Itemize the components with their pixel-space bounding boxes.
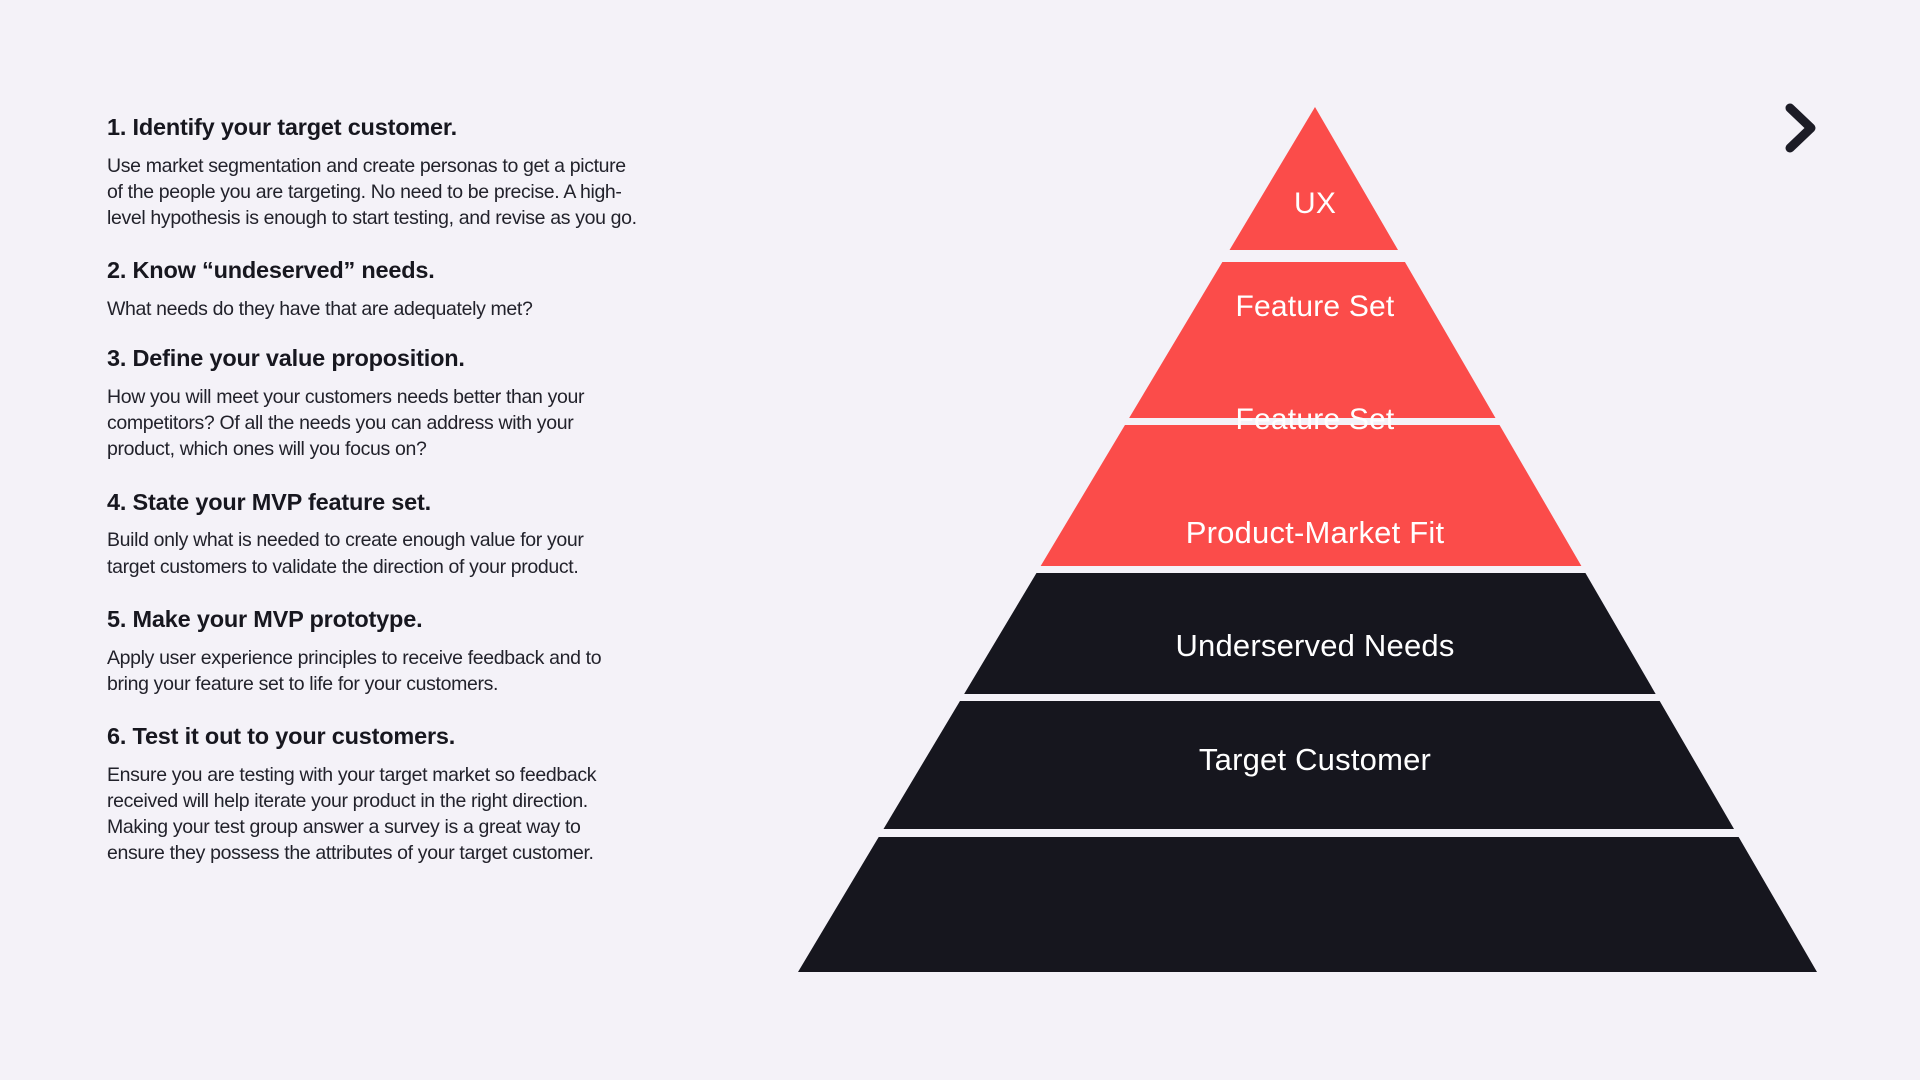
step-body-line: Apply user experience principles to rece… bbox=[107, 645, 747, 671]
pyramid-tier-shape-6[interactable] bbox=[780, 837, 1840, 977]
step-item-1: 1. Identify your target customer. Use ma… bbox=[107, 112, 757, 231]
step-body-line: What needs do they have that are adequat… bbox=[107, 296, 747, 322]
step-body: Build only what is needed to create enou… bbox=[107, 527, 747, 579]
pyramid-tier-shape-2[interactable] bbox=[780, 262, 1840, 418]
pyramid-tier-shape-1[interactable] bbox=[780, 80, 1840, 250]
step-title: 5. Make your MVP prototype. bbox=[107, 604, 757, 636]
step-body-line: level hypothesis is enough to start test… bbox=[107, 205, 747, 231]
step-body-line: competitors? Of all the needs you can ad… bbox=[107, 410, 747, 436]
step-body-line: of the people you are targeting. No need… bbox=[107, 179, 747, 205]
next-button[interactable] bbox=[1778, 98, 1824, 158]
pyramid-tier-label-2: Feature Set bbox=[1236, 290, 1395, 323]
step-title: 3. Define your value proposition. bbox=[107, 343, 757, 375]
step-body-line: How you will meet your customers needs b… bbox=[107, 384, 747, 410]
step-item-5: 5. Make your MVP prototype. Apply user e… bbox=[107, 604, 757, 697]
pyramid-tier-label-6: Target Customer bbox=[1199, 742, 1431, 777]
step-body-line: Making your test group answer a survey i… bbox=[107, 814, 747, 840]
pyramid-tier-label-3: Feature Set bbox=[1236, 403, 1395, 436]
step-item-6: 6. Test it out to your customers. Ensure… bbox=[107, 721, 757, 867]
step-title: 2. Know “undeserved” needs. bbox=[107, 255, 757, 287]
step-body: What needs do they have that are adequat… bbox=[107, 296, 747, 322]
step-body: How you will meet your customers needs b… bbox=[107, 384, 747, 463]
step-item-3: 3. Define your value proposition. How yo… bbox=[107, 343, 757, 462]
step-body: Use market segmentation and create perso… bbox=[107, 153, 747, 232]
step-body: Apply user experience principles to rece… bbox=[107, 645, 747, 697]
pyramid-tier-label-1: UX bbox=[1294, 187, 1336, 220]
step-body-line: target customers to validate the directi… bbox=[107, 554, 747, 580]
step-body-line: Ensure you are testing with your target … bbox=[107, 762, 747, 788]
step-title: 4. State your MVP feature set. bbox=[107, 487, 757, 519]
step-item-2: 2. Know “undeserved” needs. What needs d… bbox=[107, 255, 757, 322]
step-body-line: product, which ones will you focus on? bbox=[107, 436, 747, 462]
step-body-line: Build only what is needed to create enou… bbox=[107, 527, 747, 553]
chevron-right-icon[interactable] bbox=[1778, 98, 1824, 158]
step-body: Ensure you are testing with your target … bbox=[107, 762, 747, 867]
pyramid-diagram: UX Feature Set Feature Set Product-Marke… bbox=[780, 80, 1840, 1000]
step-body-line: received will help iterate your product … bbox=[107, 788, 747, 814]
step-body-line: Use market segmentation and create perso… bbox=[107, 153, 747, 179]
step-title: 1. Identify your target customer. bbox=[107, 112, 757, 144]
steps-list: 1. Identify your target customer. Use ma… bbox=[107, 112, 757, 878]
step-item-4: 4. State your MVP feature set. Build onl… bbox=[107, 487, 757, 580]
pyramid-tier-label-4: Product-Market Fit bbox=[1186, 515, 1445, 550]
slide-canvas: 1. Identify your target customer. Use ma… bbox=[0, 0, 1920, 1080]
pyramid-tier-label-5: Underserved Needs bbox=[1175, 628, 1454, 663]
step-title: 6. Test it out to your customers. bbox=[107, 721, 757, 753]
step-body-line: ensure they possess the attributes of yo… bbox=[107, 840, 747, 866]
step-body-line: bring your feature set to life for your … bbox=[107, 671, 747, 697]
